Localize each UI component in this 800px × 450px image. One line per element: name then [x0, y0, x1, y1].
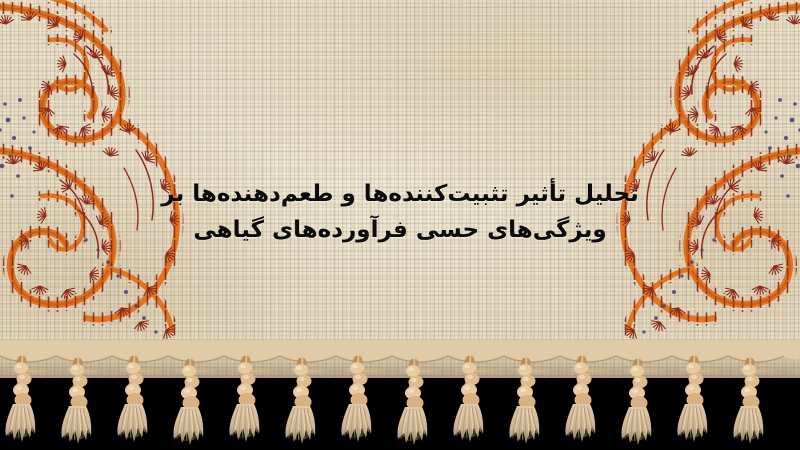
title-line-1: تحلیل تأثیر تثبیت‌کننده‌ها و طعم‌دهنده‌ه… — [150, 176, 650, 212]
knotted-tassel-fringe — [0, 340, 800, 450]
paisley-embroidery-left-icon — [0, 0, 240, 350]
title-card-slide: تحلیل تأثیر تثبیت‌کننده‌ها و طعم‌دهنده‌ه… — [0, 0, 800, 450]
slide-title: تحلیل تأثیر تثبیت‌کننده‌ها و طعم‌دهنده‌ه… — [150, 176, 650, 248]
paisley-embroidery-right-icon — [560, 0, 800, 350]
title-line-2: ویژگی‌های حسی فرآورده‌های گیاهی — [150, 212, 650, 248]
